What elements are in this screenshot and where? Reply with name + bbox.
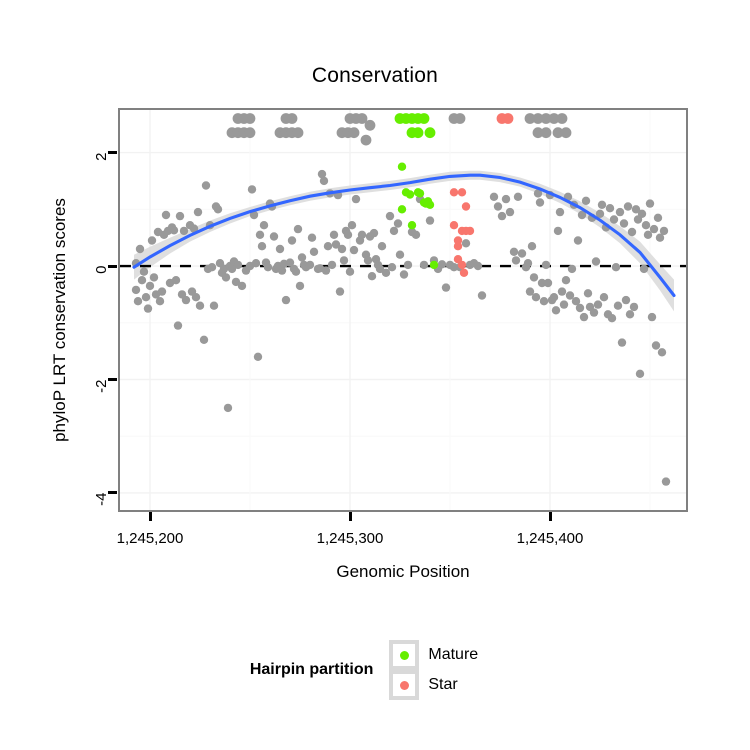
data-point [618, 338, 626, 346]
data-point [658, 348, 666, 356]
data-point [346, 268, 354, 276]
x-axis-tick-label: 1,245,300 [290, 530, 410, 547]
data-point [648, 313, 656, 321]
data-point [412, 231, 420, 239]
data-point [624, 202, 632, 210]
data-point [426, 216, 434, 224]
data-point [142, 293, 150, 301]
data-point [590, 308, 598, 316]
data-point [460, 269, 468, 277]
data-point [628, 228, 636, 236]
data-point [536, 198, 544, 206]
data-point [210, 302, 218, 310]
legend-key [389, 640, 419, 670]
data-point [544, 279, 552, 287]
data-point [136, 245, 144, 253]
data-point [276, 245, 284, 253]
data-point [442, 283, 450, 291]
data-point [612, 263, 620, 271]
legend-label: Star [428, 676, 457, 694]
data-point [430, 261, 438, 269]
data-point [282, 296, 290, 304]
data-point [140, 268, 148, 276]
data-point [144, 304, 152, 312]
data-point [328, 261, 336, 269]
data-point [200, 336, 208, 344]
data-point [400, 270, 408, 278]
legend-label: Mature [428, 646, 478, 664]
data-point [310, 248, 318, 256]
data-point [134, 297, 142, 305]
data-point [438, 260, 446, 268]
data-point [224, 404, 232, 412]
data-point [640, 265, 648, 273]
data-point [146, 282, 154, 290]
data-point [330, 231, 338, 239]
x-axis-tick [149, 512, 152, 521]
legend-swatch-dot-icon [400, 651, 409, 660]
data-point [390, 227, 398, 235]
data-point [148, 236, 156, 244]
data-point [518, 249, 526, 257]
data-point [378, 242, 386, 250]
data-point [172, 276, 180, 284]
data-point [292, 268, 300, 276]
data-point [620, 219, 628, 227]
rug-point [365, 120, 376, 131]
data-point [208, 263, 216, 271]
data-point [398, 163, 406, 171]
data-point [368, 272, 376, 280]
data-point [498, 212, 506, 220]
data-point [542, 261, 550, 269]
data-point [288, 236, 296, 244]
rug-point [287, 113, 298, 124]
data-point [490, 193, 498, 201]
data-point [258, 242, 266, 250]
data-point [608, 314, 616, 322]
data-point [598, 201, 606, 209]
data-point [350, 246, 358, 254]
data-point [338, 245, 346, 253]
data-point [264, 263, 272, 271]
data-point [552, 306, 560, 314]
data-point [214, 205, 222, 213]
data-point [194, 208, 202, 216]
x-axis-tick-label: 1,245,200 [90, 530, 210, 547]
data-point [606, 204, 614, 212]
data-point [254, 353, 262, 361]
y-axis-tick-label: -4 [93, 492, 110, 505]
data-point [568, 265, 576, 273]
data-point [404, 261, 412, 269]
rug-point [293, 127, 304, 138]
data-point [234, 261, 242, 269]
data-point [408, 221, 416, 229]
chart-title: Conservation [0, 64, 750, 88]
conservation-scatter-figure: Conservation phyloP LRT conservation sco… [0, 0, 750, 750]
data-point [158, 287, 166, 295]
data-point [156, 297, 164, 305]
rug-point [245, 113, 256, 124]
data-point [580, 313, 588, 321]
data-point [642, 221, 650, 229]
plot-svg [120, 110, 686, 510]
data-point [202, 181, 210, 189]
data-point [524, 259, 532, 267]
legend-items: MatureStar [389, 640, 500, 700]
data-point [450, 221, 458, 229]
y-axis-tick-label: 0 [93, 266, 110, 274]
data-point [196, 302, 204, 310]
data-point [454, 255, 462, 263]
data-point [238, 282, 246, 290]
data-point [510, 248, 518, 256]
data-point [554, 227, 562, 235]
data-point [610, 215, 618, 223]
data-point [396, 251, 404, 259]
rug-point [425, 127, 436, 138]
data-point [584, 289, 592, 297]
data-point [478, 291, 486, 299]
data-point [450, 188, 458, 196]
data-point [426, 201, 434, 209]
data-point [182, 296, 190, 304]
plot-area [120, 110, 686, 510]
legend-title: Hairpin partition [250, 661, 374, 679]
rug-point [413, 127, 424, 138]
rug-point [245, 127, 256, 138]
data-point [388, 263, 396, 271]
data-point [132, 286, 140, 294]
data-point [466, 227, 474, 235]
data-point [462, 239, 470, 247]
legend-item-mature[interactable]: Mature [389, 640, 478, 670]
data-point [574, 236, 582, 244]
data-point [532, 293, 540, 301]
data-point [394, 219, 402, 227]
data-point [600, 293, 608, 301]
data-point [506, 208, 514, 216]
data-point [560, 300, 568, 308]
data-point [616, 208, 624, 216]
data-point [252, 259, 260, 267]
y-axis-title: phyloP LRT conservation scores [50, 110, 70, 530]
data-point [514, 193, 522, 201]
data-point [622, 296, 630, 304]
data-point [176, 212, 184, 220]
legend-item-star[interactable]: Star [389, 670, 478, 700]
data-point [614, 302, 622, 310]
data-point [630, 303, 638, 311]
data-point [294, 225, 302, 233]
data-point [540, 297, 548, 305]
data-point [454, 242, 462, 250]
data-point [660, 227, 668, 235]
x-axis-title: Genomic Position [118, 562, 688, 582]
data-point [352, 195, 360, 203]
data-point [652, 341, 660, 349]
data-point [298, 253, 306, 261]
data-point [260, 221, 268, 229]
series-mature [395, 113, 439, 269]
data-point [248, 185, 256, 193]
data-point [530, 273, 538, 281]
rug-point [361, 135, 372, 146]
data-point [336, 287, 344, 295]
data-point [320, 177, 328, 185]
y-axis-tick-label: -2 [93, 379, 110, 392]
data-point [636, 370, 644, 378]
data-point [162, 211, 170, 219]
plot-panel [118, 108, 688, 512]
data-point [406, 190, 414, 198]
data-point [582, 197, 590, 205]
data-point [386, 212, 394, 220]
data-point [556, 208, 564, 216]
data-point [192, 293, 200, 301]
data-point [340, 256, 348, 264]
data-point [420, 261, 428, 269]
data-point [594, 300, 602, 308]
data-point [462, 202, 470, 210]
data-point [512, 256, 520, 264]
data-point [370, 229, 378, 237]
data-point [308, 234, 316, 242]
data-point [654, 214, 662, 222]
data-point [222, 273, 230, 281]
data-point [296, 282, 304, 290]
data-point [416, 189, 424, 197]
data-point [174, 321, 182, 329]
data-point [494, 202, 502, 210]
x-axis-tick [349, 512, 352, 521]
data-point [256, 231, 264, 239]
x-axis-tick [549, 512, 552, 521]
data-point [662, 477, 670, 485]
rug-point [419, 113, 430, 124]
data-point [170, 226, 178, 234]
data-point [348, 221, 356, 229]
rug-point [503, 113, 514, 124]
legend-key-inner [393, 674, 415, 696]
data-point [398, 205, 406, 213]
data-point [324, 242, 332, 250]
rug-point [349, 127, 360, 138]
data-point [558, 287, 566, 295]
data-point [150, 273, 158, 281]
data-point [650, 225, 658, 233]
data-point [358, 231, 366, 239]
y-axis-tick-label: 2 [93, 152, 110, 160]
rug-point [455, 113, 466, 124]
legend-key-inner [393, 644, 415, 666]
data-point [364, 256, 372, 264]
rug-point [561, 127, 572, 138]
x-axis-tick-label: 1,245,400 [490, 530, 610, 547]
data-point [458, 188, 466, 196]
data-point [562, 276, 570, 284]
data-point [550, 293, 558, 301]
data-point [576, 304, 584, 312]
data-point [502, 195, 510, 203]
rug-point [541, 127, 552, 138]
data-point [306, 261, 314, 269]
data-point [344, 231, 352, 239]
data-point [138, 276, 146, 284]
data-point [528, 242, 536, 250]
data-point [592, 257, 600, 265]
legend: Hairpin partition MatureStar [0, 640, 750, 700]
data-point [270, 232, 278, 240]
data-point [474, 262, 482, 270]
series-star [450, 113, 514, 277]
data-point [646, 199, 654, 207]
legend-key [389, 670, 419, 700]
data-point [638, 210, 646, 218]
data-point [626, 310, 634, 318]
rug-point [557, 113, 568, 124]
legend-swatch-dot-icon [400, 681, 409, 690]
